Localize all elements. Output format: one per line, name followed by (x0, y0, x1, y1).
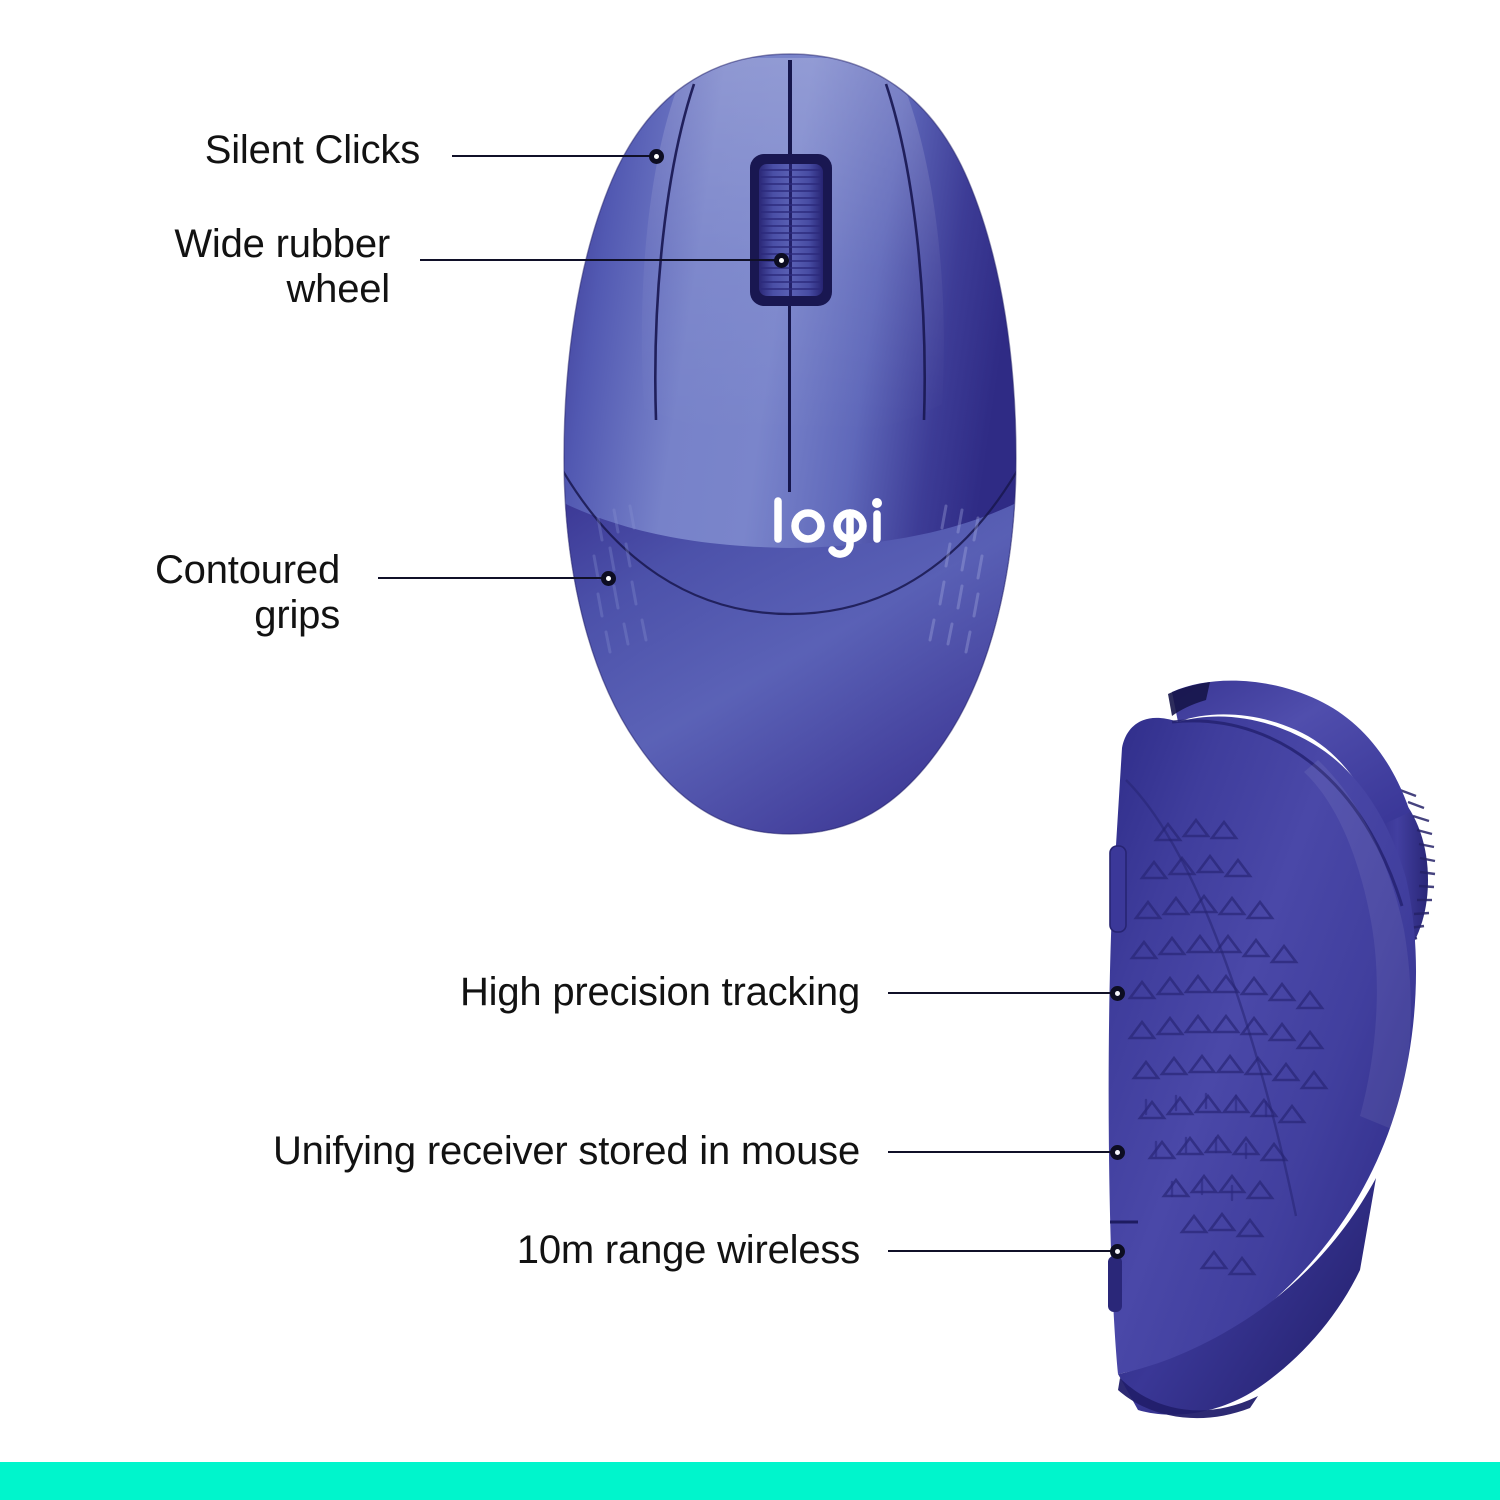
callout-label-unifying-receiver: Unifying receiver stored in mouse (60, 1129, 860, 1174)
center-split-upper (788, 60, 792, 156)
product-infographic: Silent Clicks Wide rubber wheel Contoure… (0, 0, 1500, 1500)
accent-bar (0, 1462, 1500, 1500)
side-bottom-nub (1108, 1256, 1122, 1312)
leader-line-range-wireless (888, 1250, 1118, 1252)
leader-line-silent-clicks (452, 155, 652, 157)
logi-logo (770, 495, 890, 551)
leader-dot-contoured-grips (601, 571, 616, 586)
mouse-side-view (1060, 630, 1460, 1410)
callout-label-contoured-grips: Contoured grips (20, 548, 340, 638)
center-split-lower (788, 300, 791, 492)
leader-line-wide-rubber-wheel (420, 259, 780, 261)
callout-label-silent-clicks: Silent Clicks (40, 128, 420, 173)
side-button (1110, 846, 1126, 932)
leader-dot-high-precision-tracking (1110, 986, 1125, 1001)
leader-line-contoured-grips (378, 577, 606, 579)
leader-dot-silent-clicks (649, 149, 664, 164)
callout-label-high-precision-tracking: High precision tracking (200, 970, 860, 1015)
mouse-top-view (540, 48, 1040, 838)
leader-line-unifying-receiver (888, 1151, 1118, 1153)
leader-line-high-precision-tracking (888, 992, 1118, 994)
logi-dot (872, 498, 882, 508)
leader-dot-wide-rubber-wheel (774, 253, 789, 268)
callout-label-wide-rubber-wheel: Wide rubber wheel (40, 222, 390, 312)
leader-dot-range-wireless (1110, 1244, 1125, 1259)
callout-label-range-wireless: 10m range wireless (200, 1228, 860, 1273)
leader-dot-unifying-receiver (1110, 1145, 1125, 1160)
